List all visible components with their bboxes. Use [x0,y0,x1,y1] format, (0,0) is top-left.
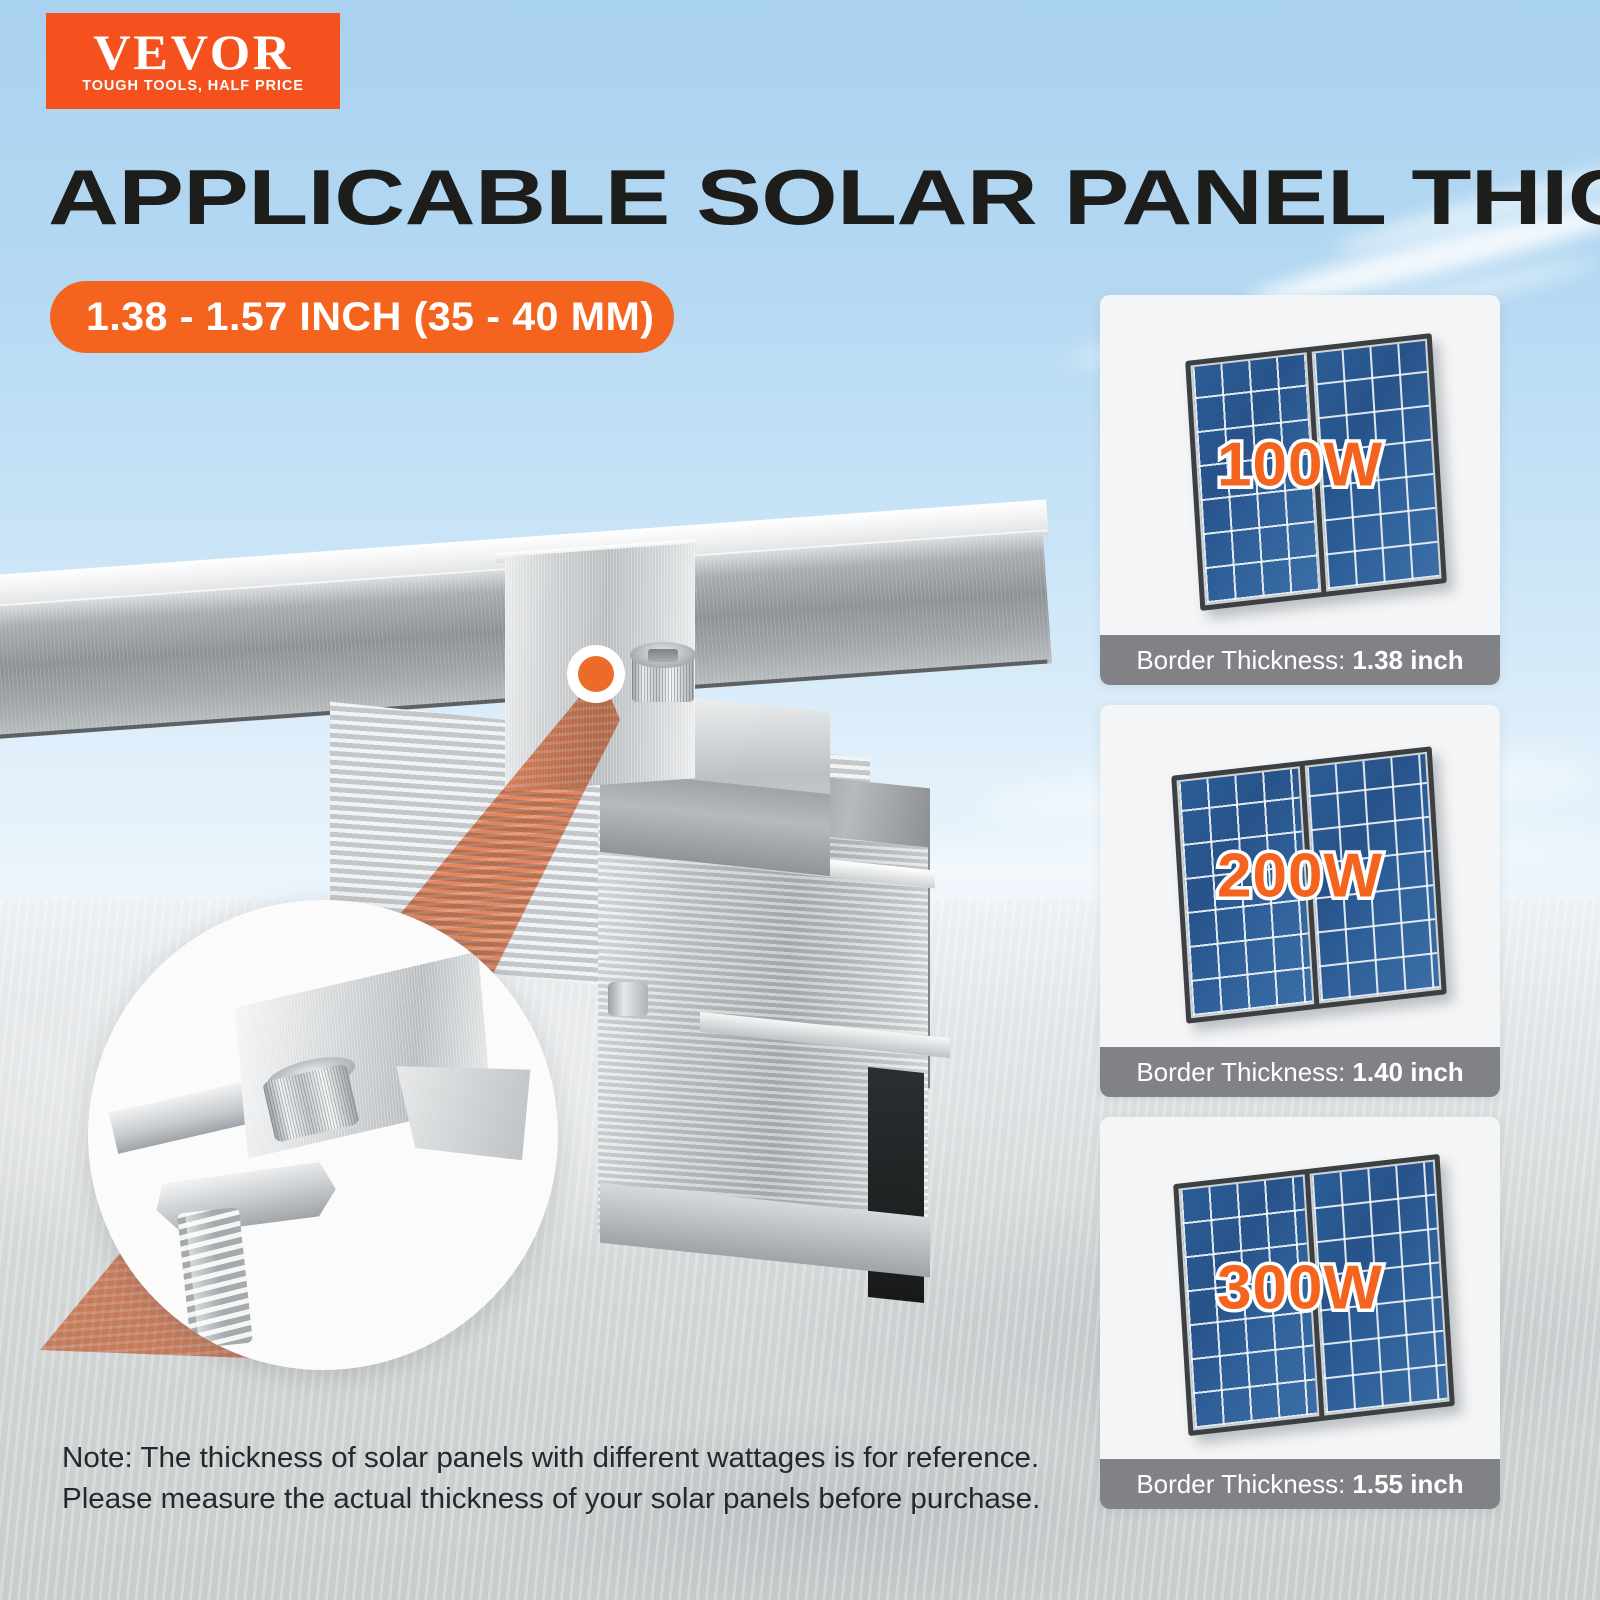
wattage-label: 300W [1100,1253,1500,1324]
vevor-logo: VEVOR TOUGH TOOLS, HALF PRICE [46,13,340,109]
panel-spec-card: 100W Border Thickness: 1.38 inch [1100,295,1500,685]
panel-spec-card: 200W Border Thickness: 1.40 inch [1100,705,1500,1097]
caption-value: 1.40 inch [1352,1057,1463,1088]
highlight-dot-icon [578,656,614,692]
brand-tagline: TOUGH TOOLS, HALF PRICE [82,79,304,94]
caption-value: 1.38 inch [1352,645,1463,676]
magnified-detail-inset [88,900,558,1370]
brand-wordmark: VEVOR [93,29,293,77]
thickness-range-text: 1.38 - 1.57 INCH (35 - 40 MM) [86,295,654,340]
caption-label: Border Thickness: [1136,645,1345,676]
panel-image: 100W [1100,295,1500,635]
card-caption-bar: Border Thickness: 1.55 inch [1100,1459,1500,1509]
note-line-1: Note: The thickness of solar panels with… [62,1438,1062,1479]
caption-label: Border Thickness: [1136,1057,1345,1088]
card-caption-bar: Border Thickness: 1.40 inch [1100,1047,1500,1097]
clamp-product-illustration [0,430,1090,1440]
caption-value: 1.55 inch [1352,1469,1463,1500]
disclaimer-note: Note: The thickness of solar panels with… [62,1438,1062,1520]
lower-bolt [608,982,648,1016]
caption-label: Border Thickness: [1136,1469,1345,1500]
card-caption-bar: Border Thickness: 1.38 inch [1100,635,1500,685]
note-line-2: Please measure the actual thickness of y… [62,1479,1062,1520]
wattage-label: 200W [1100,841,1500,912]
inset-threaded-screw [177,1207,253,1349]
panel-image: 200W [1100,705,1500,1047]
panel-image: 300W [1100,1117,1500,1459]
hex-socket-icon [648,649,678,662]
thickness-range-badge: 1.38 - 1.57 INCH (35 - 40 MM) [50,281,674,353]
panel-spec-card: 300W Border Thickness: 1.55 inch [1100,1117,1500,1509]
wattage-label: 100W [1100,430,1500,501]
page-title: APPLICABLE SOLAR PANEL THICKNESS [48,158,1600,236]
